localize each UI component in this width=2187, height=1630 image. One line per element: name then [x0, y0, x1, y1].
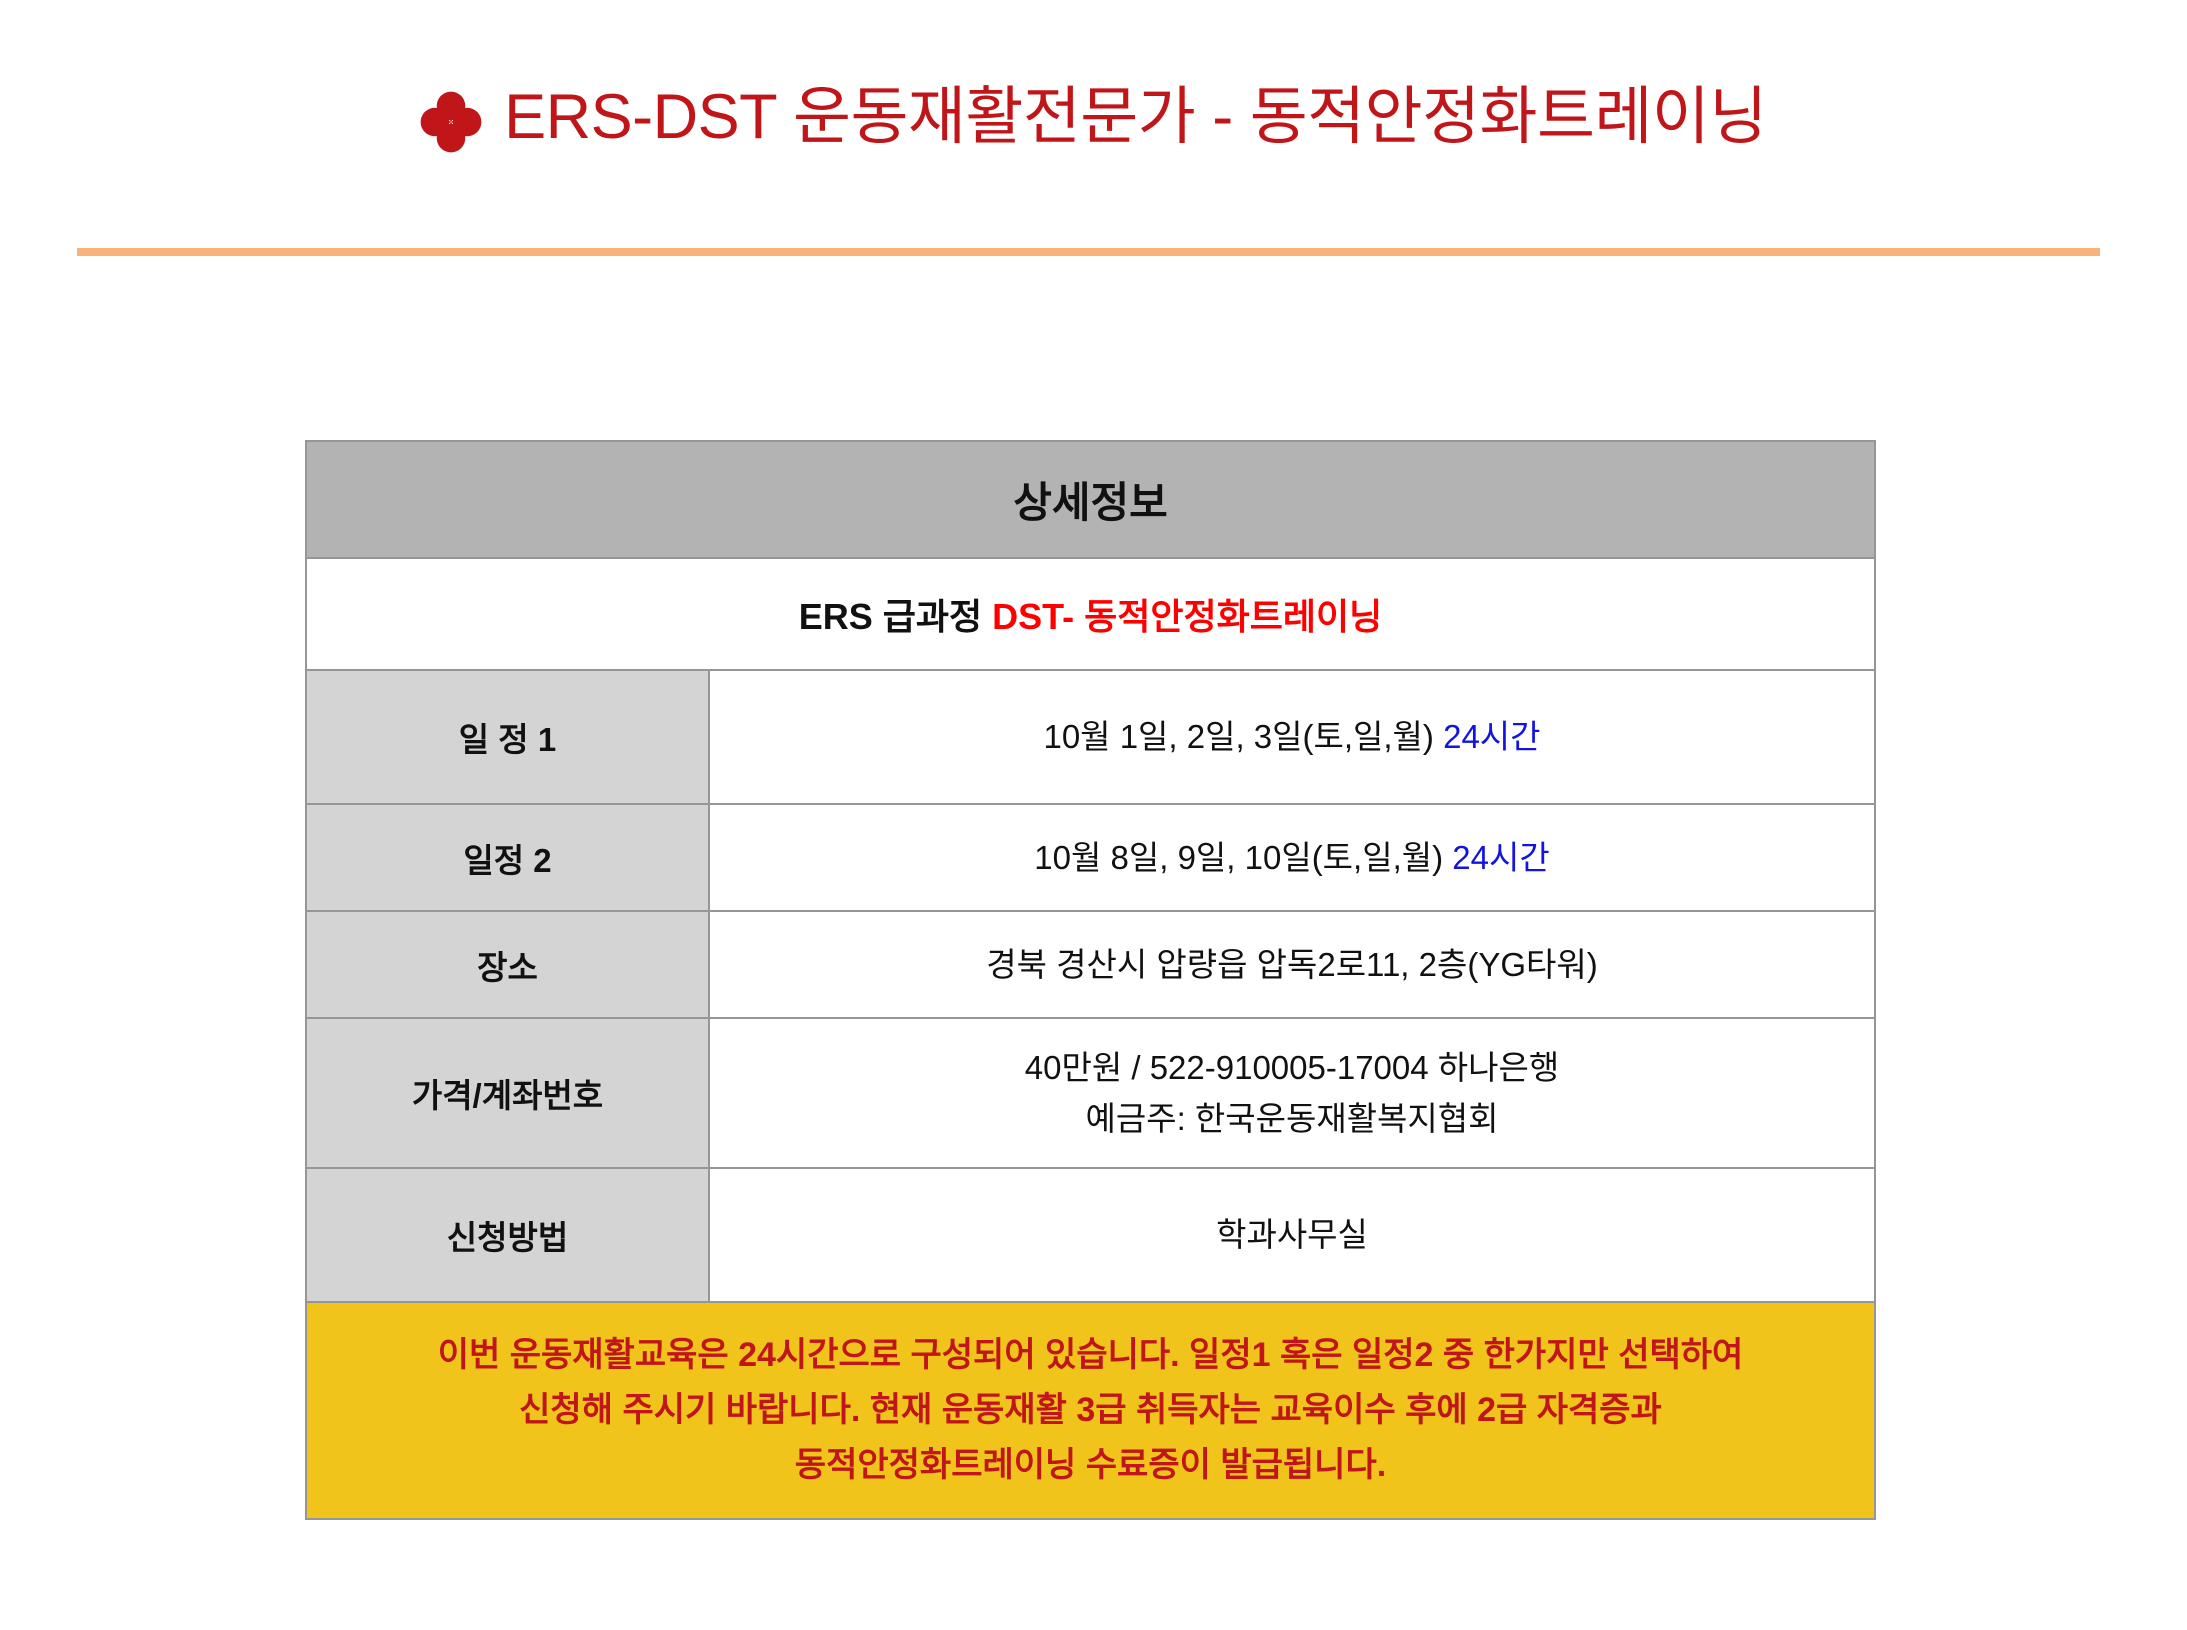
course-subtitle-plain: ERS 급과정: [799, 596, 992, 637]
row-value-schedule-2: 10월 8일, 9일, 10일(토,일,월) 24시간: [709, 804, 1875, 911]
row-label-apply-method: 신청방법: [306, 1168, 709, 1302]
price-account-line-1: 40만원 / 522-910005-17004 하나은행: [710, 1042, 1874, 1093]
row-value-location: 경북 경산시 압량읍 압독2로11, 2층(YG타워): [709, 911, 1875, 1018]
schedule-1-date: 10월 1일, 2일, 3일(토,일,월): [1043, 718, 1443, 755]
schedule-1-hours: 24시간: [1443, 718, 1540, 755]
row-label-location: 장소: [306, 911, 709, 1018]
table-row: 가격/계좌번호 40만원 / 522-910005-17004 하나은행 예금주…: [306, 1018, 1875, 1168]
notice-line-2: 신청해 주시기 바랍니다. 현재 운동재활 3급 취득자는 교육이수 후에 2급…: [307, 1383, 1874, 1438]
schedule-2-date: 10월 8일, 9일, 10일(토,일,월): [1034, 839, 1452, 876]
notice-banner: 이번 운동재활교육은 24시간으로 구성되어 있습니다. 일정1 혹은 일정2 …: [306, 1302, 1875, 1519]
course-subtitle-cell: ERS 급과정 DST- 동적안정화트레이닝: [306, 558, 1875, 670]
table-row: 일정 2 10월 8일, 9일, 10일(토,일,월) 24시간: [306, 804, 1875, 911]
table-row: 신청방법 학과사무실: [306, 1168, 1875, 1302]
table-row: 일 정 1 10월 1일, 2일, 3일(토,일,월) 24시간: [306, 670, 1875, 804]
table-header-cell: 상세정보: [306, 441, 1875, 558]
row-value-apply-method: 학과사무실: [709, 1168, 1875, 1302]
table-header-row: 상세정보: [306, 441, 1875, 558]
title-divider: [77, 248, 2100, 256]
row-value-price-account: 40만원 / 522-910005-17004 하나은행 예금주: 한국운동재활…: [709, 1018, 1875, 1168]
notice-line-3: 동적안정화트레이닝 수료증이 발급됩니다.: [307, 1438, 1874, 1493]
detail-info-table: 상세정보 ERS 급과정 DST- 동적안정화트레이닝 일 정 1 10월 1일…: [305, 440, 1876, 1520]
quatrefoil-bullet-icon: [420, 91, 482, 153]
row-label-schedule-1: 일 정 1: [306, 670, 709, 804]
row-label-schedule-2: 일정 2: [306, 804, 709, 911]
row-label-price-account: 가격/계좌번호: [306, 1018, 709, 1168]
row-value-schedule-1: 10월 1일, 2일, 3일(토,일,월) 24시간: [709, 670, 1875, 804]
course-subtitle-accent: DST- 동적안정화트레이닝: [992, 596, 1382, 637]
table-notice-row: 이번 운동재활교육은 24시간으로 구성되어 있습니다. 일정1 혹은 일정2 …: [306, 1302, 1875, 1519]
price-account-line-2: 예금주: 한국운동재활복지협회: [710, 1093, 1874, 1144]
schedule-2-hours: 24시간: [1452, 839, 1549, 876]
page-title-text: ERS-DST 운동재활전문가 - 동적안정화트레이닝: [504, 83, 1767, 152]
table-subtitle-row: ERS 급과정 DST- 동적안정화트레이닝: [306, 558, 1875, 670]
notice-line-1: 이번 운동재활교육은 24시간으로 구성되어 있습니다. 일정1 혹은 일정2 …: [307, 1328, 1874, 1383]
table-row: 장소 경북 경산시 압량읍 압독2로11, 2층(YG타워): [306, 911, 1875, 1018]
page-title: ERS-DST 운동재활전문가 - 동적안정화트레이닝: [0, 58, 2187, 178]
